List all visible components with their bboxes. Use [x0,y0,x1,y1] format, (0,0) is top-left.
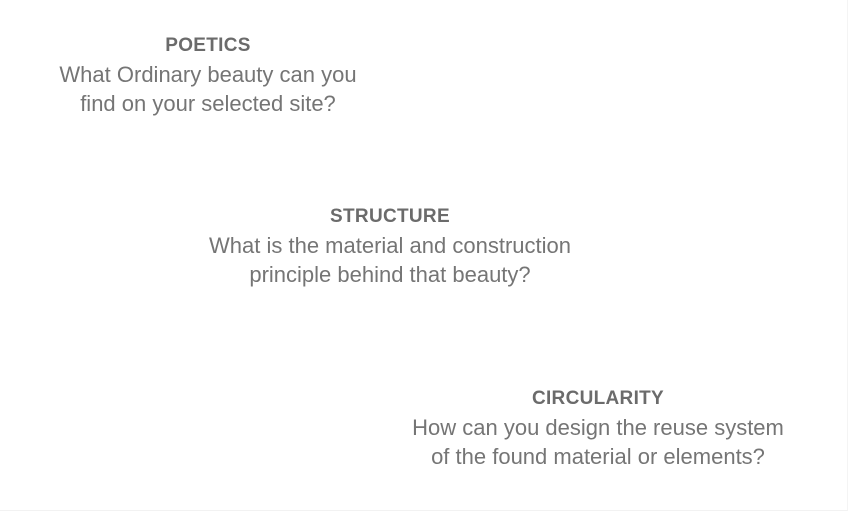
prompt-block-poetics: POETICS What Ordinary beauty can you fin… [59,31,356,118]
prompt-line-structure-1: What is the material and construction [209,231,571,260]
prompt-block-structure: STRUCTURE What is the material and const… [209,202,571,289]
prompt-line-structure-2: principle behind that beauty? [209,260,571,289]
prompt-heading-poetics: POETICS [59,31,356,60]
slide-canvas: POETICS What Ordinary beauty can you fin… [0,0,848,511]
prompt-line-circularity-2: of the found material or elements? [412,442,784,471]
prompt-line-poetics-1: What Ordinary beauty can you [59,60,356,89]
prompt-block-circularity: CIRCULARITY How can you design the reuse… [412,384,784,471]
prompt-heading-circularity: CIRCULARITY [412,384,784,413]
prompt-heading-structure: STRUCTURE [209,202,571,231]
prompt-line-circularity-1: How can you design the reuse system [412,413,784,442]
prompt-line-poetics-2: find on your selected site? [59,89,356,118]
